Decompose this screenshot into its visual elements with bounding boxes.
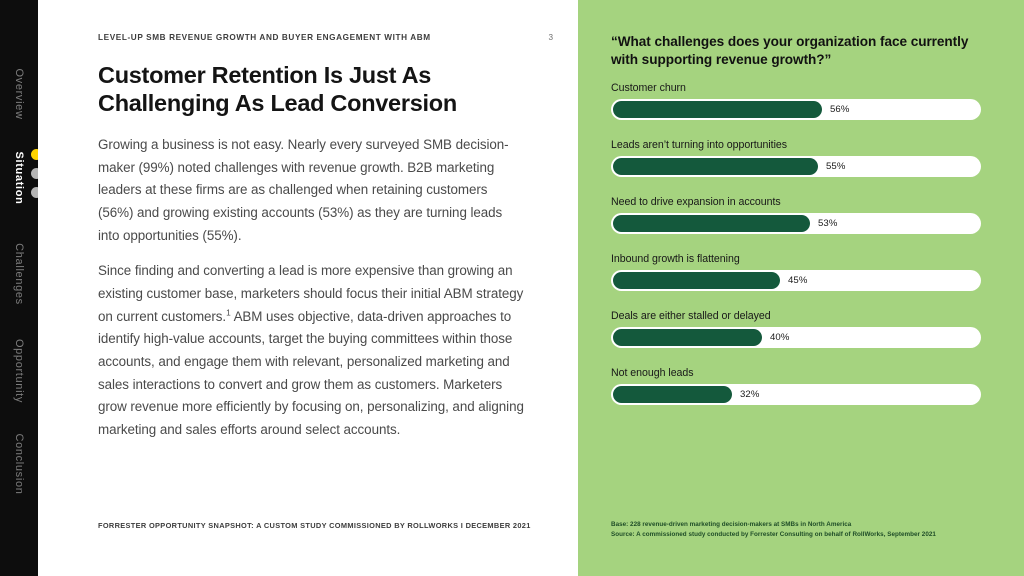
bar-label: Deals are either stalled or delayed bbox=[611, 310, 981, 322]
bar-label: Customer churn bbox=[611, 82, 981, 94]
bar-track: 32% bbox=[611, 384, 981, 405]
bar-track: 45% bbox=[611, 270, 981, 291]
sidebar-item-situation[interactable]: Situation bbox=[13, 152, 25, 205]
chart-base-note: Base: 228 revenue-driven marketing decis… bbox=[611, 520, 1006, 530]
body-copy: Growing a business is not easy. Nearly e… bbox=[98, 134, 526, 455]
header-row: LEVEL-UP SMB REVENUE GROWTH AND BUYER EN… bbox=[98, 33, 553, 42]
bar-label: Need to drive expansion in accounts bbox=[611, 196, 981, 208]
bar-row-inbound-flattening: Inbound growth is flattening 45% bbox=[611, 253, 981, 291]
page-number: 3 bbox=[548, 33, 553, 42]
bar-row-leads-not-turning: Leads aren’t turning into opportunities … bbox=[611, 139, 981, 177]
sidebar-nav-rail: Overview Situation Challenges Opportunit… bbox=[0, 0, 38, 576]
page-title-line-1: Customer Retention Is Just As bbox=[98, 62, 518, 90]
bar-fill bbox=[613, 329, 762, 346]
bar-label: Inbound growth is flattening bbox=[611, 253, 981, 265]
chart-title: “What challenges does your organization … bbox=[611, 33, 971, 69]
bar-label: Leads aren’t turning into opportunities bbox=[611, 139, 981, 151]
chart-source-note: Source: A commissioned study conducted b… bbox=[611, 530, 1006, 540]
chart-panel: “What challenges does your organization … bbox=[578, 0, 1024, 576]
eyebrow-title: LEVEL-UP SMB REVENUE GROWTH AND BUYER EN… bbox=[98, 33, 431, 42]
bar-track: 40% bbox=[611, 327, 981, 348]
paragraph-2-text-after: ABM uses objective, data-driven approach… bbox=[98, 309, 524, 437]
sidebar-item-overview[interactable]: Overview bbox=[13, 68, 25, 119]
bar-value: 40% bbox=[770, 332, 790, 343]
sidebar-nav-items: Overview Situation Challenges Opportunit… bbox=[0, 0, 38, 576]
bar-value: 56% bbox=[830, 104, 850, 115]
slide: Overview Situation Challenges Opportunit… bbox=[0, 0, 1024, 576]
chart-footnotes: Base: 228 revenue-driven marketing decis… bbox=[611, 520, 1006, 540]
left-content-column: LEVEL-UP SMB REVENUE GROWTH AND BUYER EN… bbox=[38, 0, 578, 576]
bar-chart: Customer churn 56% Leads aren’t turning … bbox=[611, 82, 981, 424]
sidebar-item-conclusion[interactable]: Conclusion bbox=[13, 433, 25, 494]
bar-track: 56% bbox=[611, 99, 981, 120]
bar-row-deals-stalled: Deals are either stalled or delayed 40% bbox=[611, 310, 981, 348]
bar-label: Not enough leads bbox=[611, 367, 981, 379]
bar-row-not-enough-leads: Not enough leads 32% bbox=[611, 367, 981, 405]
bar-value: 45% bbox=[788, 275, 808, 286]
page-title: Customer Retention Is Just As Challengin… bbox=[98, 62, 518, 118]
body-paragraph-2: Since finding and converting a lead is m… bbox=[98, 260, 526, 441]
left-footer-attribution: FORRESTER OPPORTUNITY SNAPSHOT: A CUSTOM… bbox=[98, 521, 531, 530]
bar-fill bbox=[613, 272, 780, 289]
bar-value: 55% bbox=[826, 161, 846, 172]
bar-track: 53% bbox=[611, 213, 981, 234]
bar-fill bbox=[613, 386, 732, 403]
bar-fill bbox=[613, 158, 818, 175]
bar-value: 53% bbox=[818, 218, 838, 229]
body-paragraph-1: Growing a business is not easy. Nearly e… bbox=[98, 134, 526, 247]
bar-fill bbox=[613, 101, 822, 118]
bar-value: 32% bbox=[740, 389, 760, 400]
bar-row-drive-expansion: Need to drive expansion in accounts 53% bbox=[611, 196, 981, 234]
bar-fill bbox=[613, 215, 810, 232]
sidebar-item-opportunity[interactable]: Opportunity bbox=[13, 339, 25, 403]
bar-track: 55% bbox=[611, 156, 981, 177]
sidebar-item-challenges[interactable]: Challenges bbox=[13, 243, 25, 305]
page-title-line-2: Challenging As Lead Conversion bbox=[98, 90, 518, 118]
bar-row-customer-churn: Customer churn 56% bbox=[611, 82, 981, 120]
